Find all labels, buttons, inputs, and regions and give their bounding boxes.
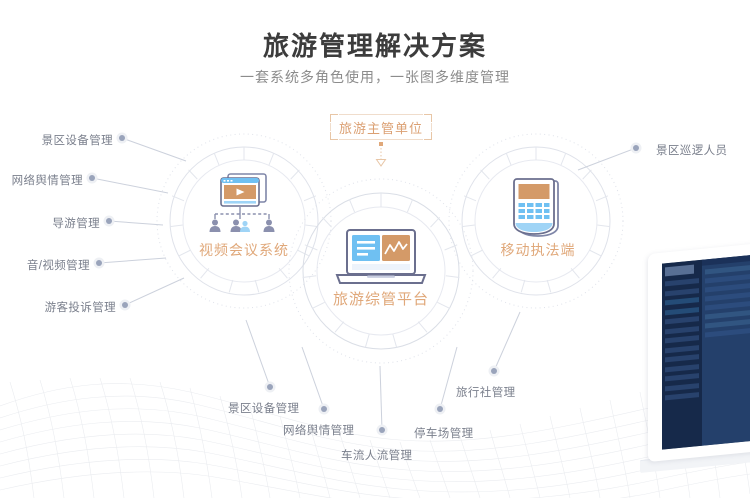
spoke-label-bottom-4: 停车场管理 xyxy=(414,425,474,441)
mock-nav-item xyxy=(665,383,699,391)
mock-nav-item xyxy=(665,307,699,315)
spoke-label-bottom-5: 旅行社管理 xyxy=(456,384,516,400)
laptop-bezel xyxy=(648,241,750,462)
node-label-platform: 旅游综管平台 xyxy=(321,288,441,309)
mock-nav-item xyxy=(665,392,699,400)
node-label-mobile-enforcement: 移动执法端 xyxy=(478,240,598,260)
mock-nav-item xyxy=(665,326,699,334)
spoke-label-right-1: 景区巡逻人员 xyxy=(656,142,727,158)
mock-nav-item xyxy=(665,316,699,324)
mock-topbar xyxy=(702,252,750,266)
laptop-dashboard-icon xyxy=(331,228,431,290)
spoke-label-left-2: 网络舆情管理 xyxy=(0,172,83,188)
spoke-label-left-3: 导游管理 xyxy=(0,215,100,231)
mock-nav-item xyxy=(665,335,699,343)
mock-content-area xyxy=(702,252,750,446)
mock-nav-item xyxy=(665,354,699,362)
laptop-screen xyxy=(662,252,750,450)
mock-logo xyxy=(665,264,699,276)
spoke-label-left-1: 景区设备管理 xyxy=(0,132,113,148)
mobile-enforcement-icon xyxy=(508,178,568,244)
mock-nav-item xyxy=(665,297,699,305)
spoke-label-left-5: 游客投诉管理 xyxy=(0,299,116,315)
solution-diagram-page: 旅游管理解决方案 一套系统多角色使用，一张图多维度管理 旅游主管单位 xyxy=(0,0,750,498)
mock-nav-item xyxy=(665,345,699,353)
spoke-label-bottom-3: 车流人流管理 xyxy=(341,447,412,463)
video-conference-icon xyxy=(199,172,289,234)
mock-nav-item xyxy=(665,288,699,296)
mock-sidebar xyxy=(662,260,702,450)
tourism-dashboard-laptop-mockup xyxy=(648,254,750,498)
mock-nav-item xyxy=(665,364,699,372)
mock-nav-item xyxy=(665,278,699,286)
spoke-label-bottom-2: 网络舆情管理 xyxy=(283,422,354,438)
node-label-video-conference: 视频会议系统 xyxy=(184,240,304,260)
spoke-label-left-4: 音/视频管理 xyxy=(0,257,90,273)
spoke-label-bottom-1: 景区设备管理 xyxy=(228,400,299,416)
mock-nav-item xyxy=(665,373,699,381)
